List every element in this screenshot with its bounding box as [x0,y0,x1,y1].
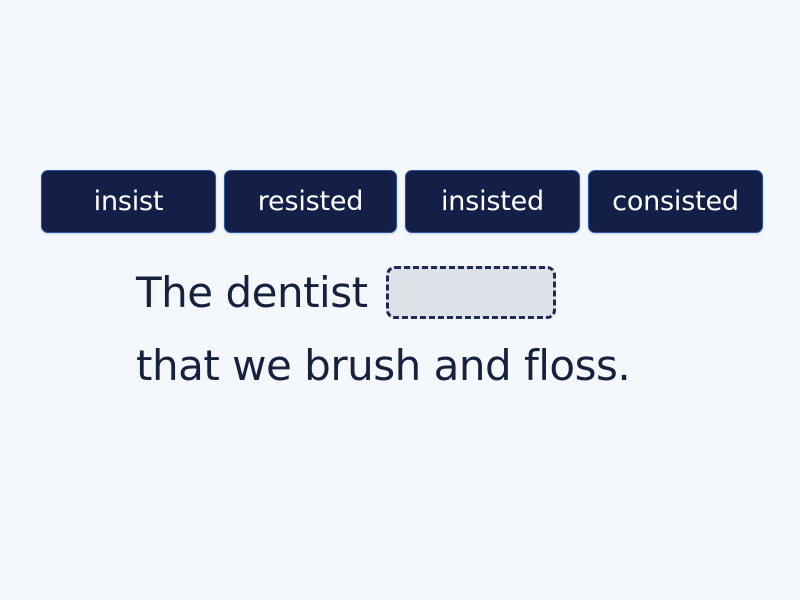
answer-choice-list: insist resisted insisted consisted [41,170,759,233]
answer-choice-label: resisted [258,188,364,215]
sentence-text-after-blank: that we brush and floss. [136,341,630,390]
answer-choice-label: insist [94,188,164,215]
sentence-line-1: The dentist [136,256,756,329]
exercise-stage: insist resisted insisted consisted The d… [0,0,800,600]
sentence-text-before-blank: The dentist [136,268,368,317]
answer-choice-label: consisted [612,188,739,215]
answer-drop-slot[interactable] [386,266,556,319]
answer-choice-tile-4[interactable]: consisted [588,170,763,233]
sentence-prompt: The dentist that we brush and floss. [136,256,756,402]
answer-choice-label: insisted [441,188,544,215]
answer-choice-tile-3[interactable]: insisted [405,170,580,233]
sentence-line-2: that we brush and floss. [136,329,756,402]
answer-choice-tile-2[interactable]: resisted [224,170,397,233]
answer-choice-tile-1[interactable]: insist [41,170,216,233]
